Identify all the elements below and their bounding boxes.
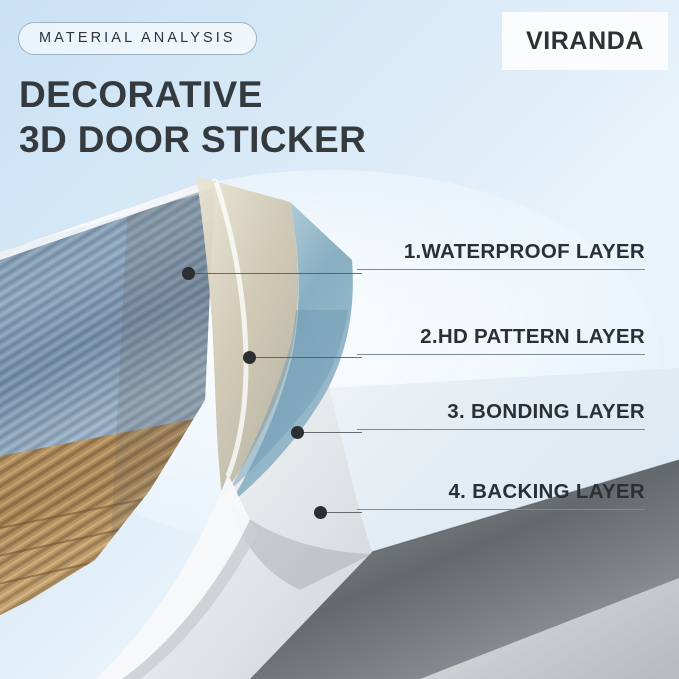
leader-line-hd-pattern xyxy=(255,357,362,358)
page-title-line-1: DECORATIVE xyxy=(19,74,263,115)
callout-dot-bonding xyxy=(291,426,304,439)
page-title: DECORATIVE 3D DOOR STICKER xyxy=(19,72,366,162)
callout-dot-waterproof xyxy=(182,267,195,280)
leader-line-bonding xyxy=(303,432,362,433)
callout-dot-hd-pattern xyxy=(243,351,256,364)
callout-dot-backing xyxy=(314,506,327,519)
callout-label-bonding: 3. BONDING LAYER xyxy=(357,400,645,430)
callout-label-hd-pattern: 2.HD PATTERN LAYER xyxy=(357,325,645,355)
eyebrow-badge: MATERIAL ANALYSIS xyxy=(18,22,257,55)
brand-name: VIRANDA xyxy=(526,27,644,56)
infographic-canvas: 1.WATERPROOF LAYER 2.HD PATTERN LAYER 3.… xyxy=(0,0,679,679)
callout-label-waterproof: 1.WATERPROOF LAYER xyxy=(357,240,645,270)
leader-line-waterproof xyxy=(194,273,362,274)
leader-line-backing xyxy=(326,512,362,513)
page-title-line-2: 3D DOOR STICKER xyxy=(19,117,366,162)
callout-label-backing: 4. BACKING LAYER xyxy=(357,480,645,510)
brand-logo-box: VIRANDA xyxy=(502,12,668,70)
